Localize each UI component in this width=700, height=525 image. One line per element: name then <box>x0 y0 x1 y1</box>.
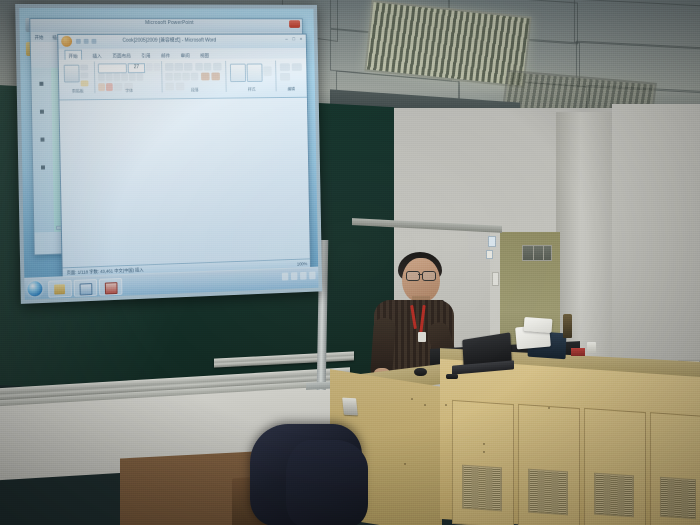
increase-indent-icon[interactable] <box>204 63 212 71</box>
word-document-area[interactable] <box>59 97 309 266</box>
podium-latch[interactable] <box>342 398 358 416</box>
word-window[interactable]: Cook[2005]2009 [兼容模式] - Microsoft Word –… <box>57 34 311 279</box>
glasses-bridge <box>418 274 422 275</box>
wall-notice <box>486 250 493 259</box>
outline-bullet <box>39 82 43 86</box>
screen-surface: Microsoft PowerPoint 开始 插入 设计 动画 幻灯片放映 审… <box>19 8 318 300</box>
shrink-font-icon[interactable] <box>154 63 161 71</box>
bullets-icon[interactable] <box>165 63 174 71</box>
tab-word-references[interactable]: 引用 <box>141 49 150 59</box>
tab-ppt-home[interactable]: 开始 <box>35 33 44 42</box>
word-taskbar-item[interactable] <box>74 279 98 297</box>
word-icon <box>80 283 93 295</box>
bold-icon[interactable] <box>98 73 105 81</box>
powerpoint-icon <box>105 282 118 294</box>
ribbon-group-label: 字体 <box>96 88 161 95</box>
select-icon[interactable] <box>292 63 302 71</box>
ribbon-group-editing[interactable]: 编辑 <box>277 60 305 91</box>
align-left-icon[interactable] <box>165 73 173 81</box>
podium-vent-1 <box>462 465 502 512</box>
style-normal-icon[interactable] <box>230 64 246 82</box>
tab-word-pagelayout[interactable]: 页面布局 <box>112 50 131 60</box>
strikethrough-icon[interactable] <box>121 73 128 81</box>
powerpoint-app-label: Microsoft PowerPoint <box>145 20 194 26</box>
outline-bullet <box>40 110 44 114</box>
ime-icon[interactable] <box>300 272 307 280</box>
folder-icon <box>54 284 65 294</box>
glasses-left-lens <box>406 271 420 281</box>
tab-word-review[interactable]: 审阅 <box>180 49 189 59</box>
paste-icon[interactable] <box>64 65 80 83</box>
red-box-item[interactable] <box>571 348 585 356</box>
ribbon-group-label: 样式 <box>228 87 276 93</box>
font-name-combo[interactable] <box>98 63 127 73</box>
projection-screen: Microsoft PowerPoint 开始 插入 设计 动画 幻灯片放映 审… <box>15 4 322 304</box>
computer-mouse[interactable] <box>414 368 427 376</box>
clock-icon[interactable] <box>309 272 315 280</box>
decrease-indent-icon[interactable] <box>195 63 203 71</box>
ribbon-group-clipboard[interactable]: 剪贴板 <box>61 62 96 94</box>
numbering-icon[interactable] <box>174 63 183 71</box>
wall-sign <box>488 236 496 247</box>
copy-icon[interactable] <box>80 72 88 78</box>
network-icon[interactable] <box>282 273 289 281</box>
styles-more-icon[interactable] <box>263 66 271 76</box>
id-badge <box>418 332 426 342</box>
outline-bullet <box>41 165 45 169</box>
powerpoint-close-button[interactable] <box>289 20 300 28</box>
tab-word-home[interactable]: 开始 <box>64 50 81 60</box>
system-tray[interactable] <box>282 272 316 281</box>
light-switch-plate[interactable] <box>492 272 499 286</box>
find-icon[interactable] <box>280 63 290 71</box>
style-heading-icon[interactable] <box>247 64 263 82</box>
volume-icon[interactable] <box>291 272 298 280</box>
ribbon-group-label: 编辑 <box>277 86 305 92</box>
subscript-icon[interactable] <box>129 73 136 81</box>
ribbon-group-font[interactable]: 27 字体 <box>96 61 163 93</box>
podium-vent-4 <box>660 477 696 520</box>
powerpoint-taskbar-item[interactable] <box>99 278 122 296</box>
podium-vent-3 <box>594 473 634 518</box>
pointer-device[interactable] <box>446 374 458 379</box>
line-spacing-icon[interactable] <box>201 73 210 81</box>
multilevel-list-icon[interactable] <box>184 63 193 71</box>
underline-icon[interactable] <box>113 73 120 81</box>
paper-sheet[interactable] <box>524 317 553 333</box>
paper-cup[interactable] <box>587 342 596 353</box>
undo-icon[interactable] <box>84 39 89 44</box>
superscript-icon[interactable] <box>137 73 144 81</box>
lecture-photo-scene: Microsoft PowerPoint 开始 插入 设计 动画 幻灯片放映 审… <box>0 0 700 525</box>
sort-icon[interactable] <box>213 63 222 71</box>
outline-bullet <box>40 138 44 142</box>
font-size-combo[interactable]: 27 <box>128 63 145 73</box>
redo-icon[interactable] <box>91 39 96 44</box>
window-caption-buttons[interactable]: – □ × <box>285 36 304 41</box>
shading-icon[interactable] <box>211 73 220 81</box>
ribbon-group-paragraph[interactable]: 段落 <box>163 61 227 93</box>
ribbon-group-styles[interactable]: 样式 <box>227 61 277 92</box>
ribbon-group-label: 段落 <box>164 87 226 93</box>
align-right-icon[interactable] <box>182 73 190 81</box>
word-ribbon[interactable]: 剪贴板 27 <box>59 58 307 100</box>
word-title-text: Cook[2005]2009 [兼容模式] - Microsoft Word <box>122 37 216 44</box>
glasses-right-lens <box>422 271 436 281</box>
podium-vent-2 <box>528 469 568 516</box>
dark-bag-foreground-2 <box>286 440 368 525</box>
tab-word-view[interactable]: 视图 <box>200 49 209 59</box>
start-orb-icon[interactable] <box>27 281 42 297</box>
word-zoom-level[interactable]: 100% <box>297 261 307 266</box>
office-button-icon[interactable] <box>61 36 72 47</box>
save-icon[interactable] <box>76 39 81 44</box>
door-window <box>522 245 552 261</box>
tab-word-insert[interactable]: 插入 <box>92 50 102 60</box>
thermos-bottle[interactable] <box>563 314 572 338</box>
grow-font-icon[interactable] <box>146 63 153 71</box>
tab-word-mailings[interactable]: 邮件 <box>161 49 170 59</box>
align-center-icon[interactable] <box>174 73 182 81</box>
replace-icon[interactable] <box>280 73 290 81</box>
justify-icon[interactable] <box>191 73 199 81</box>
ribbon-group-label: 剪贴板 <box>61 88 94 94</box>
italic-icon[interactable] <box>106 73 113 81</box>
cut-icon[interactable] <box>80 65 88 71</box>
format-painter-icon[interactable] <box>81 80 89 86</box>
taskbar-item-explorer[interactable] <box>48 280 72 298</box>
